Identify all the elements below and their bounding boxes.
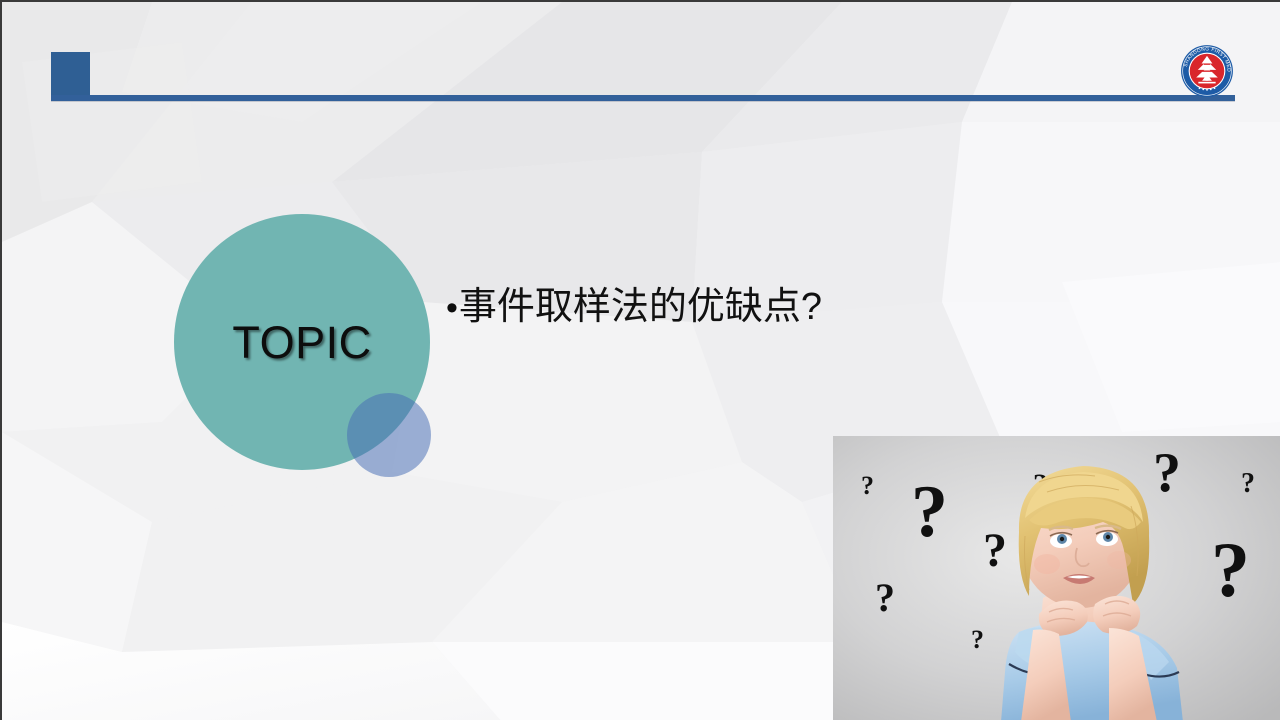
header-accent-square xyxy=(51,52,90,95)
svg-text:?: ? xyxy=(1241,468,1255,499)
topic-label: TOPIC xyxy=(232,320,371,365)
svg-text:?: ? xyxy=(971,625,984,654)
svg-text:?: ? xyxy=(911,471,948,553)
svg-text:?: ? xyxy=(983,524,1007,577)
question-marks-child-photo: ? ? ? ? ? ? ? ? ? xyxy=(833,436,1280,720)
accent-circle xyxy=(347,393,431,477)
svg-text:?: ? xyxy=(1211,526,1250,613)
bullet-point-text: 事件取样法的优缺点? xyxy=(459,287,822,329)
university-seal-icon: SHANDONG FIRST MEDICAL UNIV xyxy=(1180,44,1234,98)
svg-text:?: ? xyxy=(1153,442,1181,504)
content-bullet-line: • 事件取样法的优缺点? xyxy=(446,287,822,329)
header-divider-rule-shadow xyxy=(51,101,1235,102)
svg-text:?: ? xyxy=(861,471,874,500)
presentation-slide: SHANDONG FIRST MEDICAL UNIV TOPIC • 事件取样… xyxy=(0,0,1280,720)
bullet-point-glyph: • xyxy=(446,291,458,325)
svg-text:?: ? xyxy=(875,575,895,620)
